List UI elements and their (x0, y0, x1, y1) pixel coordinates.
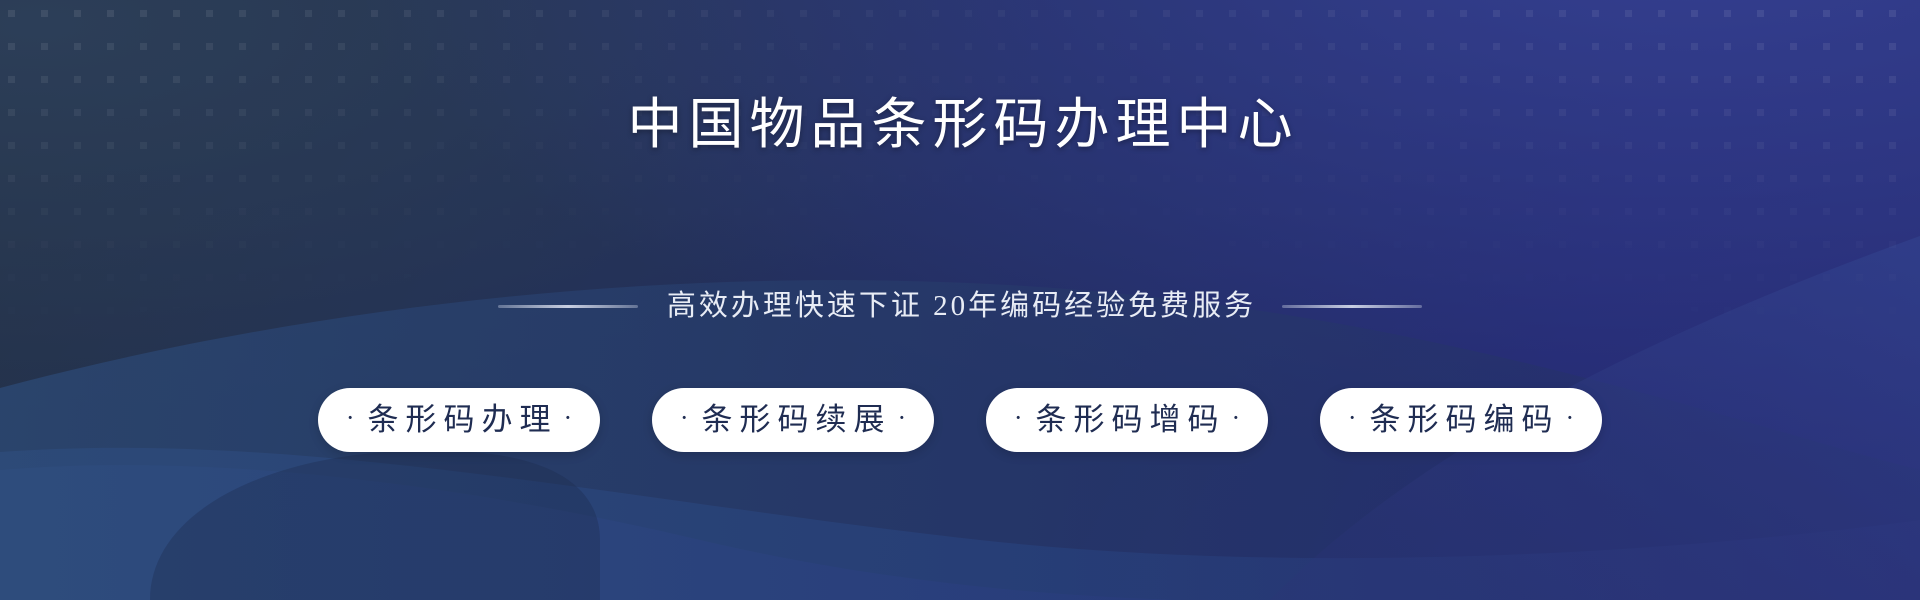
bullet-dot-icon: · (1566, 403, 1575, 433)
bullet-dot-icon: · (1348, 403, 1357, 433)
subtitle-row: 高效办理快速下证 20年编码经验免费服务 (0, 283, 1920, 329)
bullet-dot-icon: · (1014, 403, 1023, 433)
banner-subtitle: 高效办理快速下证 20年编码经验免费服务 (664, 283, 1256, 329)
pill-button-barcode-add[interactable]: · 条形码增码 · (986, 388, 1268, 452)
bullet-dot-icon: · (898, 403, 907, 433)
pill-label: 条形码编码 (1363, 400, 1560, 440)
bullet-dot-icon: · (1232, 403, 1241, 433)
service-pill-group: · 条形码办理 · · 条形码续展 · · 条形码增码 · · 条形码编码 · (0, 388, 1920, 452)
rule-left-decoration (498, 305, 638, 308)
bullet-dot-icon: · (680, 403, 689, 433)
pill-button-barcode-apply[interactable]: · 条形码办理 · (318, 388, 600, 452)
banner-content: 中国物品条形码办理中心 高效办理快速下证 20年编码经验免费服务 · 条形码办理… (0, 0, 1920, 600)
bullet-dot-icon: · (346, 403, 355, 433)
page-title: 中国物品条形码办理中心 (0, 90, 1920, 160)
rule-right-decoration (1282, 305, 1422, 308)
bullet-dot-icon: · (564, 403, 573, 433)
pill-label: 条形码增码 (1029, 400, 1226, 440)
promo-banner: 中国物品条形码办理中心 高效办理快速下证 20年编码经验免费服务 · 条形码办理… (0, 0, 1920, 600)
pill-button-barcode-renew[interactable]: · 条形码续展 · (652, 388, 934, 452)
pill-button-barcode-encode[interactable]: · 条形码编码 · (1320, 388, 1602, 452)
pill-label: 条形码办理 (361, 400, 558, 440)
pill-label: 条形码续展 (695, 400, 892, 440)
